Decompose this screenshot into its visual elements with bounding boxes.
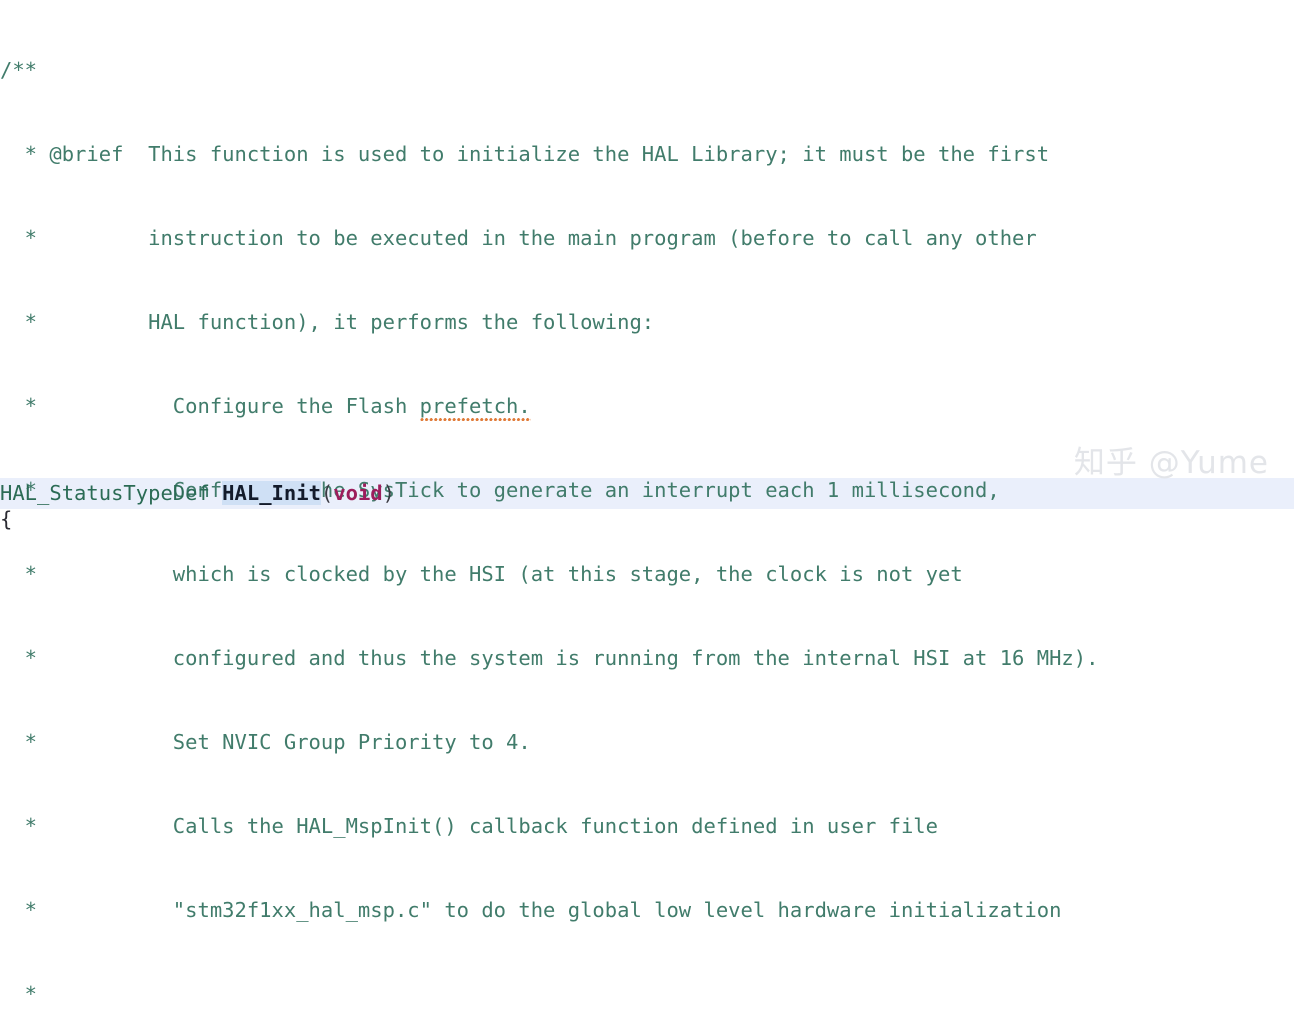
parameter-keyword: void <box>333 481 382 505</box>
open-brace-line: { <box>0 505 12 533</box>
code-text: /** <box>0 58 37 82</box>
code-text: * Calls the HAL_MspInit() callback funct… <box>0 814 938 838</box>
code-text: * instruction to be executed in the main… <box>0 226 1037 250</box>
code-line: * which is clocked by the HSI (at this s… <box>0 560 1294 588</box>
code-text: * "stm32f1xx_hal_msp.c" to do the global… <box>0 898 1061 922</box>
code-text: * HAL function), it performs the followi… <box>0 310 654 334</box>
code-line: * <box>0 980 1294 1008</box>
code-text: * configured and thus the system is runn… <box>0 646 1098 670</box>
code-line: /** <box>0 56 1294 84</box>
code-line: * configured and thus the system is runn… <box>0 644 1294 672</box>
open-paren: ( <box>321 481 333 505</box>
spellcheck-misspelled-word: prefetch. <box>420 394 531 422</box>
code-editor[interactable]: /** * @brief This function is used to in… <box>0 0 1294 510</box>
code-text: * @brief This function is used to initia… <box>0 142 1049 166</box>
code-text: * <box>0 982 37 1006</box>
close-paren: ) <box>383 481 395 505</box>
code-line: * "stm32f1xx_hal_msp.c" to do the global… <box>0 896 1294 924</box>
code-line: * HAL function), it performs the followi… <box>0 308 1294 336</box>
code-line: * instruction to be executed in the main… <box>0 224 1294 252</box>
code-text: * Set NVIC Group Priority to 4. <box>0 730 531 754</box>
code-line: * @brief This function is used to initia… <box>0 140 1294 168</box>
whitespace <box>210 481 222 505</box>
return-type: HAL_StatusTypeDef <box>0 481 210 505</box>
code-line: * Set NVIC Group Priority to 4. <box>0 728 1294 756</box>
code-line: * Calls the HAL_MspInit() callback funct… <box>0 812 1294 840</box>
code-text: * Configure the Flash <box>0 394 420 418</box>
function-signature-line[interactable]: HAL_StatusTypeDef HAL_Init(void) <box>0 478 395 509</box>
function-name[interactable]: HAL_Init <box>222 481 321 505</box>
code-line: * Configure the Flash prefetch. <box>0 392 1294 420</box>
code-text: * which is clocked by the HSI (at this s… <box>0 562 963 586</box>
doc-comment-block[interactable]: /** * @brief This function is used to in… <box>0 0 1294 1020</box>
